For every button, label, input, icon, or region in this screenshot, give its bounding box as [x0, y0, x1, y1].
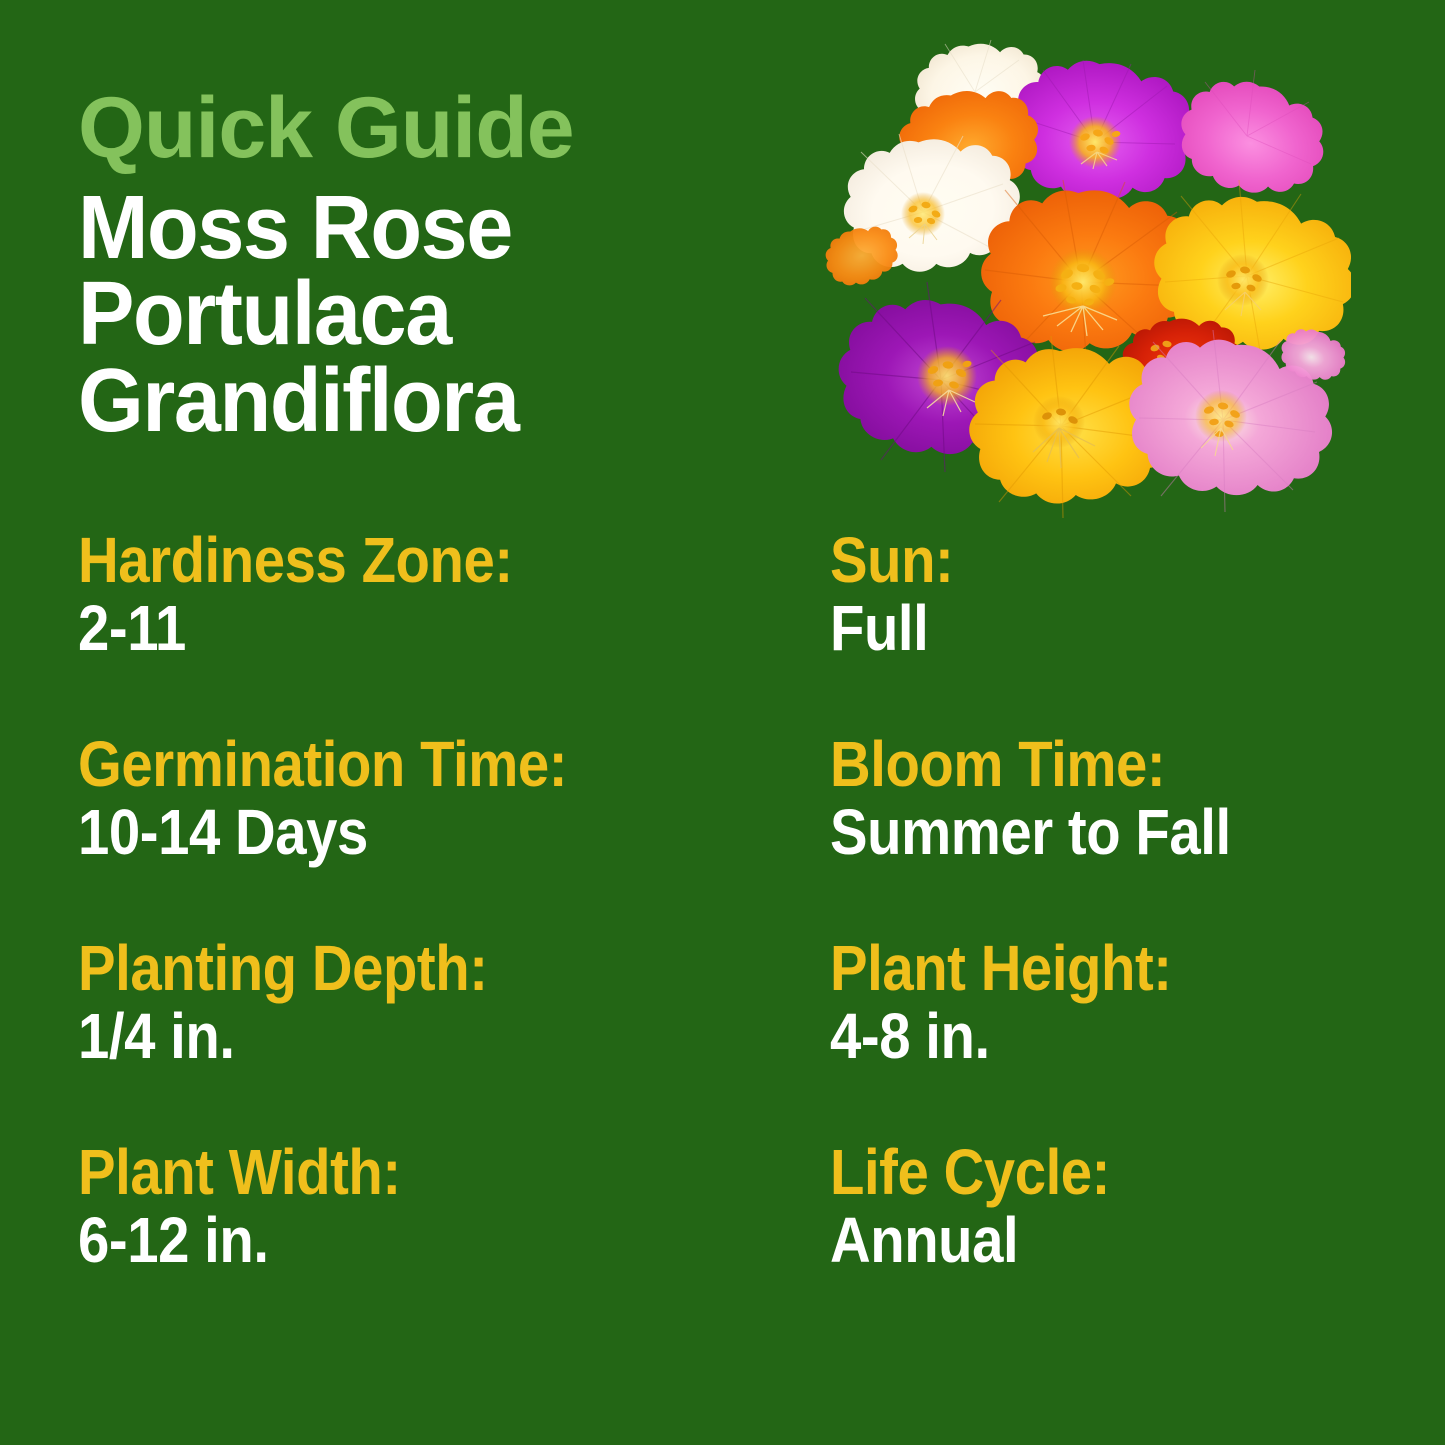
spec-label: Germination Time: — [78, 732, 740, 796]
title-line-3: Grandiflora — [78, 358, 736, 444]
spec-value: Summer to Fall — [830, 800, 1312, 864]
spec-label: Plant Width: — [78, 1140, 740, 1204]
kicker-quick-guide: Quick Guide — [78, 88, 778, 169]
quick-guide-card: Quick Guide Moss Rose Portulaca Grandifl… — [0, 0, 1445, 1445]
flower-cluster-photo — [795, 24, 1351, 532]
flower-yellow-right — [1144, 180, 1351, 368]
spec-label: Planting Depth: — [78, 936, 740, 1000]
flower-white-left — [837, 130, 1026, 279]
spec-value: 4-8 in. — [830, 1004, 1312, 1068]
spec-value: 10-14 Days — [78, 800, 740, 864]
flower-hotpink-topright — [1169, 68, 1336, 208]
flower-yellow-bottom — [964, 336, 1182, 518]
spec-plant-width: Plant Width: 6-12 in. — [78, 1140, 830, 1344]
spec-sun: Sun: Full — [830, 528, 1378, 732]
flower-purple-bottomleft — [831, 282, 1051, 472]
spec-planting-depth: Planting Depth: 1/4 in. — [78, 936, 830, 1140]
spec-value: Annual — [830, 1208, 1312, 1272]
flower-magenta-top — [1005, 56, 1199, 206]
spec-value: 1/4 in. — [78, 1004, 740, 1068]
title-line-1: Moss Rose — [78, 185, 736, 271]
header-block: Quick Guide Moss Rose Portulaca Grandifl… — [78, 88, 778, 444]
spec-label: Plant Height: — [830, 936, 1312, 1000]
flower-orange-left-back — [887, 75, 1051, 212]
spec-label: Life Cycle: — [830, 1140, 1312, 1204]
flower-pink-edge-right — [1275, 323, 1351, 388]
flower-orange-edge-left — [818, 217, 906, 294]
spec-grid: Hardiness Zone: 2-11 Sun: Full Germinati… — [78, 528, 1378, 1344]
spec-label: Hardiness Zone: — [78, 528, 740, 592]
title-line-2: Portulaca — [78, 271, 736, 357]
spec-value: 6-12 in. — [78, 1208, 740, 1272]
flower-pink-bottomright — [1116, 326, 1345, 512]
flower-orange-center — [978, 180, 1200, 372]
flower-red-center-low — [1114, 308, 1251, 419]
spec-label: Bloom Time: — [830, 732, 1312, 796]
spec-label: Sun: — [830, 528, 1312, 592]
page-title: Moss Rose Portulaca Grandiflora — [78, 185, 736, 444]
spec-bloom-time: Bloom Time: Summer to Fall — [830, 732, 1378, 936]
spec-value: Full — [830, 596, 1312, 660]
spec-germination-time: Germination Time: 10-14 Days — [78, 732, 830, 936]
spec-life-cycle: Life Cycle: Annual — [830, 1140, 1378, 1344]
flower-white-top — [908, 35, 1051, 150]
spec-hardiness-zone: Hardiness Zone: 2-11 — [78, 528, 830, 732]
spec-value: 2-11 — [78, 596, 740, 660]
spec-plant-height: Plant Height: 4-8 in. — [830, 936, 1378, 1140]
